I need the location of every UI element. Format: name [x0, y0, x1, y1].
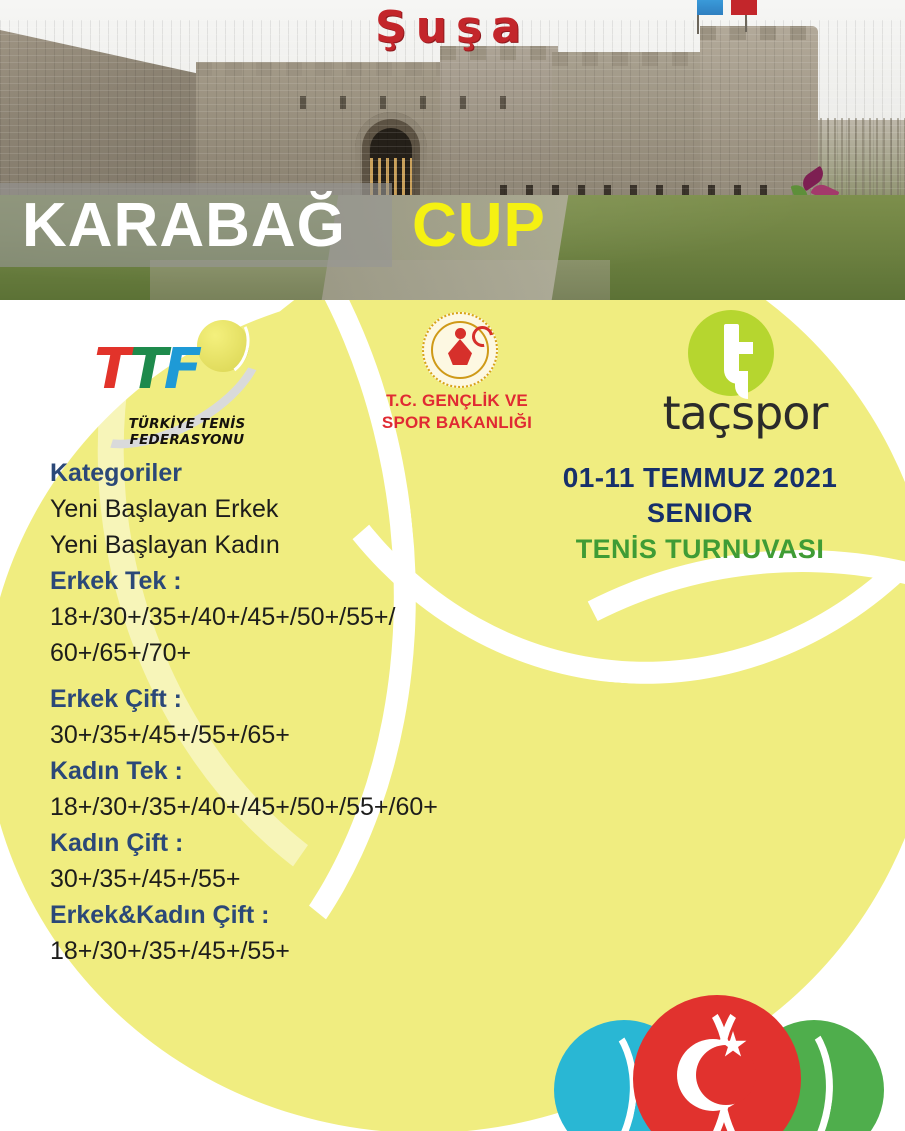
ttf-caption: TÜRKİYE TENİS FEDERASYONU [72, 416, 302, 448]
ttf-letter-t1: T [94, 337, 129, 402]
ttf-letter-t2: T [129, 337, 163, 402]
ministry-logo: T.C. GENÇLİK VE SPOR BAKANLIĞI [352, 312, 562, 447]
category-label-kadin-cift: Kadın Çift : [50, 825, 520, 861]
categories-block: Kategoriler Yeni Başlayan Erkek Yeni Baş… [50, 455, 520, 969]
susa-sign-label: Şuşa [375, 2, 530, 53]
poster-title: KARABAĞ CUP [0, 190, 905, 262]
sponsor-logo-row: TTF TÜRKİYE TENİS FEDERASYONU T.C. GENÇL… [0, 308, 905, 443]
categories-heading: Kategoriler [50, 455, 520, 491]
emblem-head [455, 328, 466, 339]
category-plain-1: Yeni Başlayan Erkek [50, 491, 520, 527]
category-values-kadin-tek: 18+/30+/35+/40+/45+/50+/55+/60+ [50, 789, 520, 825]
tennis-ball-icon [197, 320, 249, 372]
t-crossbar [734, 342, 753, 354]
category-values-erkek-tek-2: 60+/65+/70+ [50, 635, 520, 671]
emblem-body [448, 339, 472, 365]
ttf-monogram: TTF [94, 342, 198, 398]
category-values-erkek-tek-1: 18+/30+/35+/40+/45+/50+/55+/ [50, 599, 520, 635]
emblem-figures [446, 328, 472, 368]
event-info-block: 01-11 TEMMUZ 2021 SENIOR TENİS TURNUVASI [505, 460, 895, 567]
tacspor-letter-t [710, 324, 752, 384]
ttf-letter-f: F [164, 337, 198, 402]
ministry-caption-line-2: SPOR BAKANLIĞI [352, 412, 562, 434]
event-level: SENIOR [505, 496, 895, 531]
ttf-logo: TTF TÜRKİYE TENİS FEDERASYONU [72, 320, 302, 445]
event-dates: 01-11 TEMMUZ 2021 [505, 460, 895, 496]
category-label-erkek-tek: Erkek Tek : [50, 563, 520, 599]
category-label-karisik-cift: Erkek&Kadın Çift : [50, 897, 520, 933]
poster-body: TTF TÜRKİYE TENİS FEDERASYONU T.C. GENÇL… [0, 300, 905, 1131]
tacspor-wordmark: taçspor [640, 388, 850, 438]
ministry-emblem-icon [422, 312, 498, 388]
category-values-kadin-cift: 30+/35+/45+/55+ [50, 861, 520, 897]
category-plain-2: Yeni Başlayan Kadın [50, 527, 520, 563]
category-values-karisik-cift: 18+/30+/35+/45+/55+ [50, 933, 520, 969]
wall-loopholes-upper [300, 96, 530, 109]
category-label-erkek-cift: Erkek Çift : [50, 681, 520, 717]
event-type: TENİS TURNUVASI [505, 531, 895, 567]
poster: Şuşa KARABAĞ CUP TTF TÜRKİYE TENİS FEDER… [0, 0, 905, 1131]
ministry-caption: T.C. GENÇLİK VE SPOR BAKANLIĞI [352, 390, 562, 434]
category-label-kadin-tek: Kadın Tek : [50, 753, 520, 789]
tennis-ball-red-turkish [633, 995, 801, 1131]
tennis-balls-graphic [548, 990, 888, 1131]
tacspor-mark-icon [688, 310, 774, 396]
ministry-caption-line-1: T.C. GENÇLİK VE [352, 390, 562, 412]
spacer [50, 671, 520, 681]
t-foot [724, 354, 739, 384]
title-word-cup: CUP [412, 190, 546, 262]
tacspor-logo: taçspor [640, 310, 850, 450]
fortress-photo: Şuşa KARABAĞ CUP [0, 0, 905, 300]
category-values-erkek-cift: 30+/35+/45+/55+/65+ [50, 717, 520, 753]
title-word-karabag: KARABAĞ [22, 190, 346, 262]
susa-sign-text: Şuşa [0, 2, 905, 53]
